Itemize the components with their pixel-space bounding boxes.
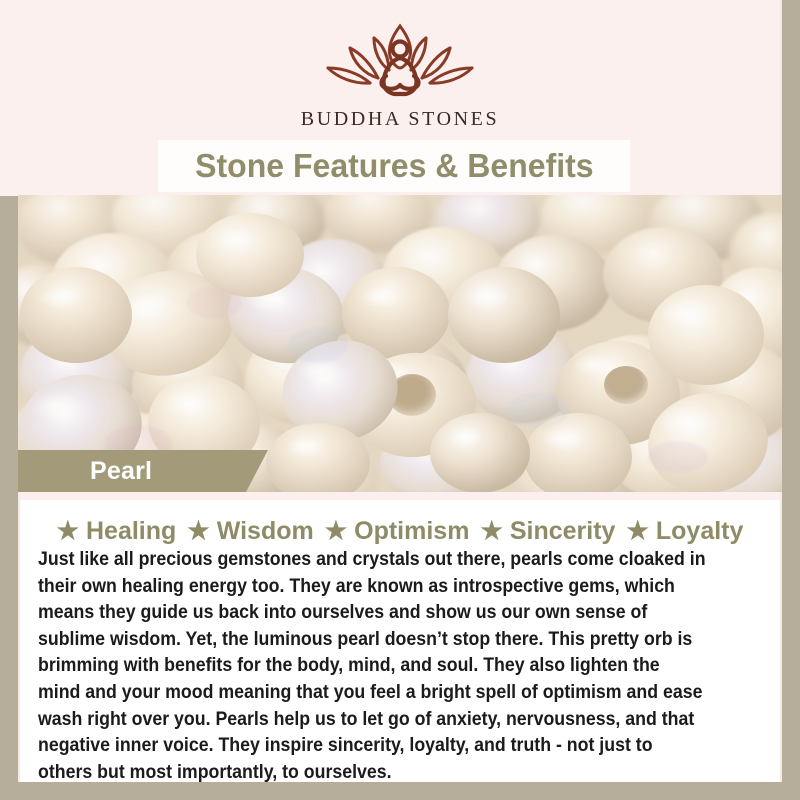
frame-bottom [0, 782, 800, 800]
benefit-label: Optimism [354, 517, 469, 546]
benefits-list: ★ Healing ★ Wisdom ★ Optimism ★ Sincerit… [18, 512, 782, 550]
stone-name: Pearl [90, 457, 152, 486]
star-icon: ★ [325, 519, 347, 544]
pearl-photo [18, 195, 782, 492]
stone-name-band: Pearl [18, 450, 246, 492]
frame-left [0, 196, 18, 800]
benefit-item: ★ Wisdom [176, 517, 313, 546]
star-icon: ★ [626, 519, 648, 544]
benefit-label: Loyalty [656, 517, 744, 546]
panel-left-hairline [18, 492, 20, 782]
star-icon: ★ [480, 519, 502, 544]
description-text: Just like all precious gemstones and cry… [38, 546, 706, 785]
panel-top-pink-strip [18, 492, 782, 500]
lotus-meditation-figure-icon [310, 18, 490, 106]
benefit-item: ★ Sincerity [469, 517, 615, 546]
frame-right [782, 196, 800, 800]
benefit-label: Wisdom [217, 517, 314, 546]
benefit-label: Healing [86, 517, 176, 546]
page-title: Stone Features & Benefits [195, 147, 593, 185]
title-banner: Stone Features & Benefits [158, 140, 630, 192]
benefit-label: Sincerity [510, 517, 616, 546]
benefit-item: ★ Optimism [314, 517, 470, 546]
star-icon: ★ [57, 519, 79, 544]
benefit-item: ★ Loyalty [615, 517, 743, 546]
brand-name: BUDDHA STONES [301, 108, 499, 131]
pearl-photo-illustration [18, 195, 782, 492]
infographic-page: BUDDHA STONES Stone Features & Benefits [0, 0, 800, 800]
star-icon: ★ [187, 519, 209, 544]
benefit-item: ★ Healing [57, 517, 177, 546]
brand-logo: BUDDHA STONES [0, 18, 800, 138]
